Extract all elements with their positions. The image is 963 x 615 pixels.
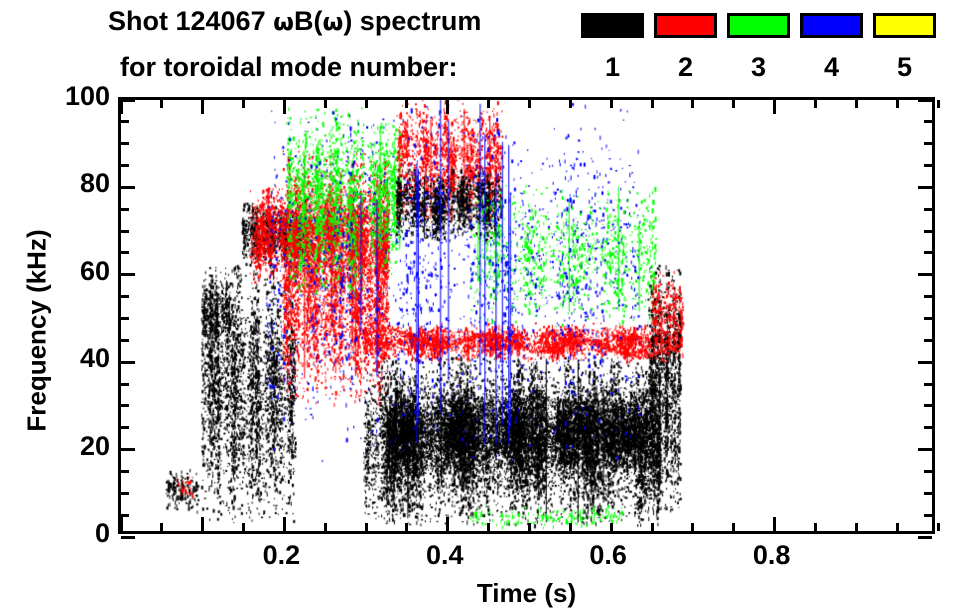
y-tick-minor [924,470,932,473]
y-tick-minor [121,230,129,233]
x-tick-minor [528,100,531,108]
legend-swatch-2 [654,13,717,38]
x-axis-title: Time (s) [118,578,935,609]
y-tick-major [121,536,135,539]
x-tick-minor [405,100,408,108]
y-tick-major [121,186,135,189]
x-tick-label: 0.4 [390,540,500,571]
y-tick-minor [121,470,129,473]
y-tick-minor [924,492,932,495]
x-tick-minor [855,100,858,108]
x-tick-minor [610,100,613,108]
legend-label-2: 2 [654,52,717,83]
y-tick-minor [924,317,932,320]
x-tick-minor [814,100,817,108]
y-tick-minor [121,404,129,407]
y-tick-major [121,99,135,102]
plot-frame [118,97,935,534]
y-tick-major [918,361,932,364]
legend: 12345 [0,0,963,95]
y-tick-major [918,99,932,102]
x-tick-minor [365,523,368,531]
y-tick-minor [121,251,129,254]
legend-swatch-4 [800,13,863,38]
y-tick-minor [121,317,129,320]
x-tick-label: 0.8 [717,540,827,571]
legend-swatch-3 [727,13,790,38]
x-tick-major [773,100,776,114]
x-tick-minor [365,100,368,108]
y-tick-minor [924,164,932,167]
y-tick-minor [121,492,129,495]
y-tick-minor [924,514,932,517]
legend-label-3: 3 [727,52,790,83]
x-tick-minor [814,523,817,531]
y-tick-minor [121,120,129,123]
x-tick-major [120,517,123,531]
y-tick-major [918,186,932,189]
x-tick-minor [896,100,899,108]
legend-label-5: 5 [873,52,936,83]
x-tick-minor [651,100,654,108]
x-tick-major [446,100,449,114]
y-tick-minor [924,251,932,254]
x-tick-label: 0.6 [553,540,663,571]
y-tick-major [918,273,932,276]
x-tick-minor [732,100,735,108]
y-tick-minor [121,142,129,145]
x-tick-minor [896,523,899,531]
y-axis-title: Frequency (kHz) [22,206,53,456]
x-tick-major [283,517,286,531]
x-tick-minor [569,100,572,108]
y-tick-minor [121,295,129,298]
y-tick-minor [924,142,932,145]
y-tick-major [121,273,135,276]
x-axis-tick-labels: 0.20.40.60.8 [118,540,935,580]
x-tick-minor [691,523,694,531]
y-tick-minor [924,426,932,429]
x-tick-minor [324,523,327,531]
y-tick-minor [924,120,932,123]
y-tick-major [121,361,135,364]
x-tick-major [773,517,776,531]
x-tick-minor [937,523,940,531]
x-tick-minor [691,100,694,108]
x-tick-major [201,100,204,114]
y-tick-minor [924,404,932,407]
legend-swatch-5 [873,13,936,38]
x-tick-minor [160,100,163,108]
x-tick-minor [855,523,858,531]
x-tick-minor [242,100,245,108]
plot-root: Shot 124067 ωB(ω) spectrum for toroidal … [0,0,963,615]
x-tick-minor [610,523,613,531]
x-tick-minor [324,100,327,108]
legend-swatch-1 [581,13,644,38]
y-tick-minor [121,383,129,386]
y-tick-major [918,448,932,451]
x-tick-minor [160,523,163,531]
x-tick-minor [651,523,654,531]
y-tick-minor [121,208,129,211]
y-tick-minor [924,339,932,342]
y-tick-minor [121,164,129,167]
x-tick-minor [569,523,572,531]
x-tick-minor [487,523,490,531]
y-tick-minor [924,383,932,386]
y-tick-minor [121,339,129,342]
x-tick-major [283,100,286,114]
x-tick-major [120,100,123,114]
y-tick-minor [924,295,932,298]
x-tick-minor [487,100,490,108]
x-tick-label: 0.2 [226,540,336,571]
x-tick-minor [242,523,245,531]
x-tick-minor [405,523,408,531]
y-tick-major [121,448,135,451]
y-axis-title-wrap: Frequency (kHz) [0,97,40,534]
x-tick-minor [528,523,531,531]
spectrogram-canvas [121,100,932,531]
x-tick-minor [937,100,940,108]
y-tick-minor [924,230,932,233]
y-tick-major [918,536,932,539]
y-tick-minor [924,208,932,211]
legend-label-4: 4 [800,52,863,83]
x-tick-minor [732,523,735,531]
y-tick-minor [121,426,129,429]
legend-label-1: 1 [581,52,644,83]
x-tick-major [446,517,449,531]
x-tick-major [201,517,204,531]
